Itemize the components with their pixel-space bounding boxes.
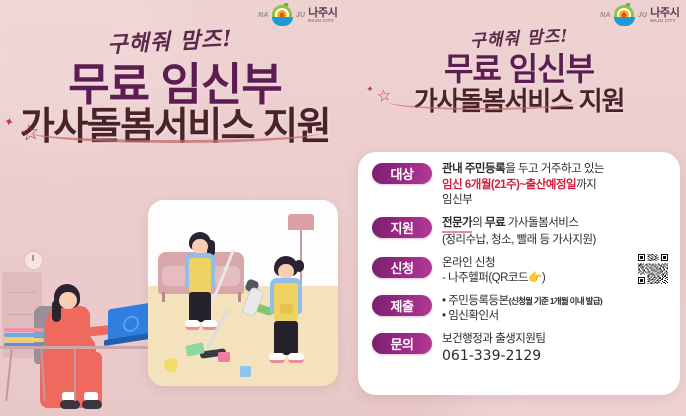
support-bold-a: 전문가: [442, 216, 472, 234]
submit-line2: • 임신확인서: [442, 309, 668, 325]
book-stack-icon: [4, 328, 44, 346]
star-icon: ☆: [376, 88, 392, 106]
info-value-submit: • 주민등록등본(신청월 기준 1개월 이내 발급) • 임신확인서: [442, 294, 668, 325]
submit-line1: • 주민등록등본: [442, 295, 509, 307]
sofa-leg: [162, 292, 165, 302]
helper-vacuuming: [260, 256, 322, 374]
info-row-submit: 제출 • 주민등록등본(신청월 기준 1개월 이내 발급) • 임신확인서: [358, 294, 680, 325]
debris-item: [218, 352, 230, 362]
target-line2-accent: 임신 6개월(21주)~출산예정일: [442, 179, 576, 191]
woman-face: [59, 292, 77, 309]
star-decoration-group: ✦ ☆: [366, 82, 410, 112]
contact-phone[interactable]: 061-339-2129: [442, 348, 668, 364]
info-label-contact: 문의: [372, 333, 432, 354]
info-label-apply: 신청: [372, 257, 432, 278]
left-hero-block: 구해줘 맘즈! 무료 임신부 가사돌봄서비스 지원 ✦ ☆: [0, 24, 350, 147]
info-value-apply: 온라인 신청 - 나주헬퍼(QR코드👉): [442, 256, 668, 287]
target-line1-rest: 을 두고 거주하고 있는: [505, 163, 604, 175]
target-line3: 임신부: [442, 193, 668, 209]
logo-text-ju: JU: [638, 12, 648, 19]
support-line2: (정리수납, 청소, 빨래 등 가사지원): [442, 233, 668, 249]
logo-wordmark: 나주시 NAJU CITY: [650, 8, 679, 24]
naju-circle-emblem-icon: [614, 5, 635, 26]
poster-root: NA JU 나주시 NAJU CITY NA JU 나주시 NAJU: [0, 0, 686, 416]
desk-leg: [74, 349, 76, 401]
target-line2-rest: 까지: [576, 179, 596, 191]
right-hero-script: 구해줘 맘즈!: [469, 21, 569, 51]
debris-item: [240, 366, 251, 377]
star-icon: ✦: [3, 115, 15, 129]
contact-department: 보건행정과 출생지원팀: [442, 332, 668, 348]
info-row-apply: 신청 온라인 신청 - 나주헬퍼(QR코드👉): [358, 256, 680, 287]
sofa-leg: [238, 292, 241, 302]
info-value-support: 전문가의 무료 가사돌봄서비스 (정리수납, 청소, 빨래 등 가사지원): [442, 216, 668, 249]
qr-code[interactable]: [638, 254, 668, 284]
housekeeping-illustration: [148, 200, 338, 386]
wall-clock-icon: [23, 250, 44, 271]
info-row-contact: 문의 보건행정과 출생지원팀 061-339-2129: [358, 332, 680, 365]
star-decoration-group: ✦ ☆: [4, 112, 64, 152]
left-hero-title-line1: 무료 임신부: [0, 62, 350, 108]
woman-shoe: [60, 400, 80, 409]
helper-sweeping: [176, 232, 236, 342]
apply-line1: 온라인 신청: [442, 256, 632, 272]
info-value-contact: 보건행정과 출생지원팀 061-339-2129: [442, 332, 668, 365]
info-label-target: 대상: [372, 163, 432, 184]
woman-shoe: [82, 400, 102, 409]
title-underline-swoosh: [388, 94, 578, 110]
info-value-target: 관내 주민등록을 두고 거주하고 있는 임신 6개월(21주)~출산예정일까지 …: [442, 162, 668, 209]
left-hero-script: 구해줘 맘즈!: [0, 15, 351, 66]
support-mid: 의: [472, 217, 485, 229]
target-line1-bold: 관내 주민등록: [442, 163, 505, 175]
logo-name-en: NAJU CITY: [650, 19, 679, 24]
floor-lamp-icon: [288, 214, 314, 230]
star-icon: ☆: [19, 121, 42, 146]
debris-item: [164, 358, 178, 372]
info-row-target: 대상 관내 주민등록을 두고 거주하고 있는 임신 6개월(21주)~출산예정일…: [358, 162, 680, 209]
info-row-support: 지원 전문가의 무료 가사돌봄서비스 (정리수납, 청소, 빨래 등 가사지원): [358, 216, 680, 249]
logo-text-na: NA: [600, 12, 611, 19]
right-hero-block: 구해줘 맘즈! 무료 임신부 가사돌봄서비스 지원 ✦ ☆: [352, 24, 686, 116]
apply-line2: - 나주헬퍼(QR코드👉): [442, 271, 632, 287]
support-rest: 가사돌봄서비스: [505, 217, 578, 229]
pregnant-woman-at-desk-illustration: [0, 248, 152, 416]
star-icon: ✦: [365, 84, 374, 94]
title-underline-swoosh: [30, 122, 320, 143]
info-label-support: 지원: [372, 217, 432, 238]
info-label-submit: 제출: [372, 295, 432, 316]
info-card: 대상 관내 주민등록을 두고 거주하고 있는 임신 6개월(21주)~출산예정일…: [358, 152, 680, 395]
naju-city-logo-right: NA JU 나주시 NAJU CITY: [600, 5, 679, 26]
support-bold-b: 무료: [485, 217, 505, 229]
submit-line1-note: (신청월 기준 1개월 이내 발급): [509, 296, 602, 306]
